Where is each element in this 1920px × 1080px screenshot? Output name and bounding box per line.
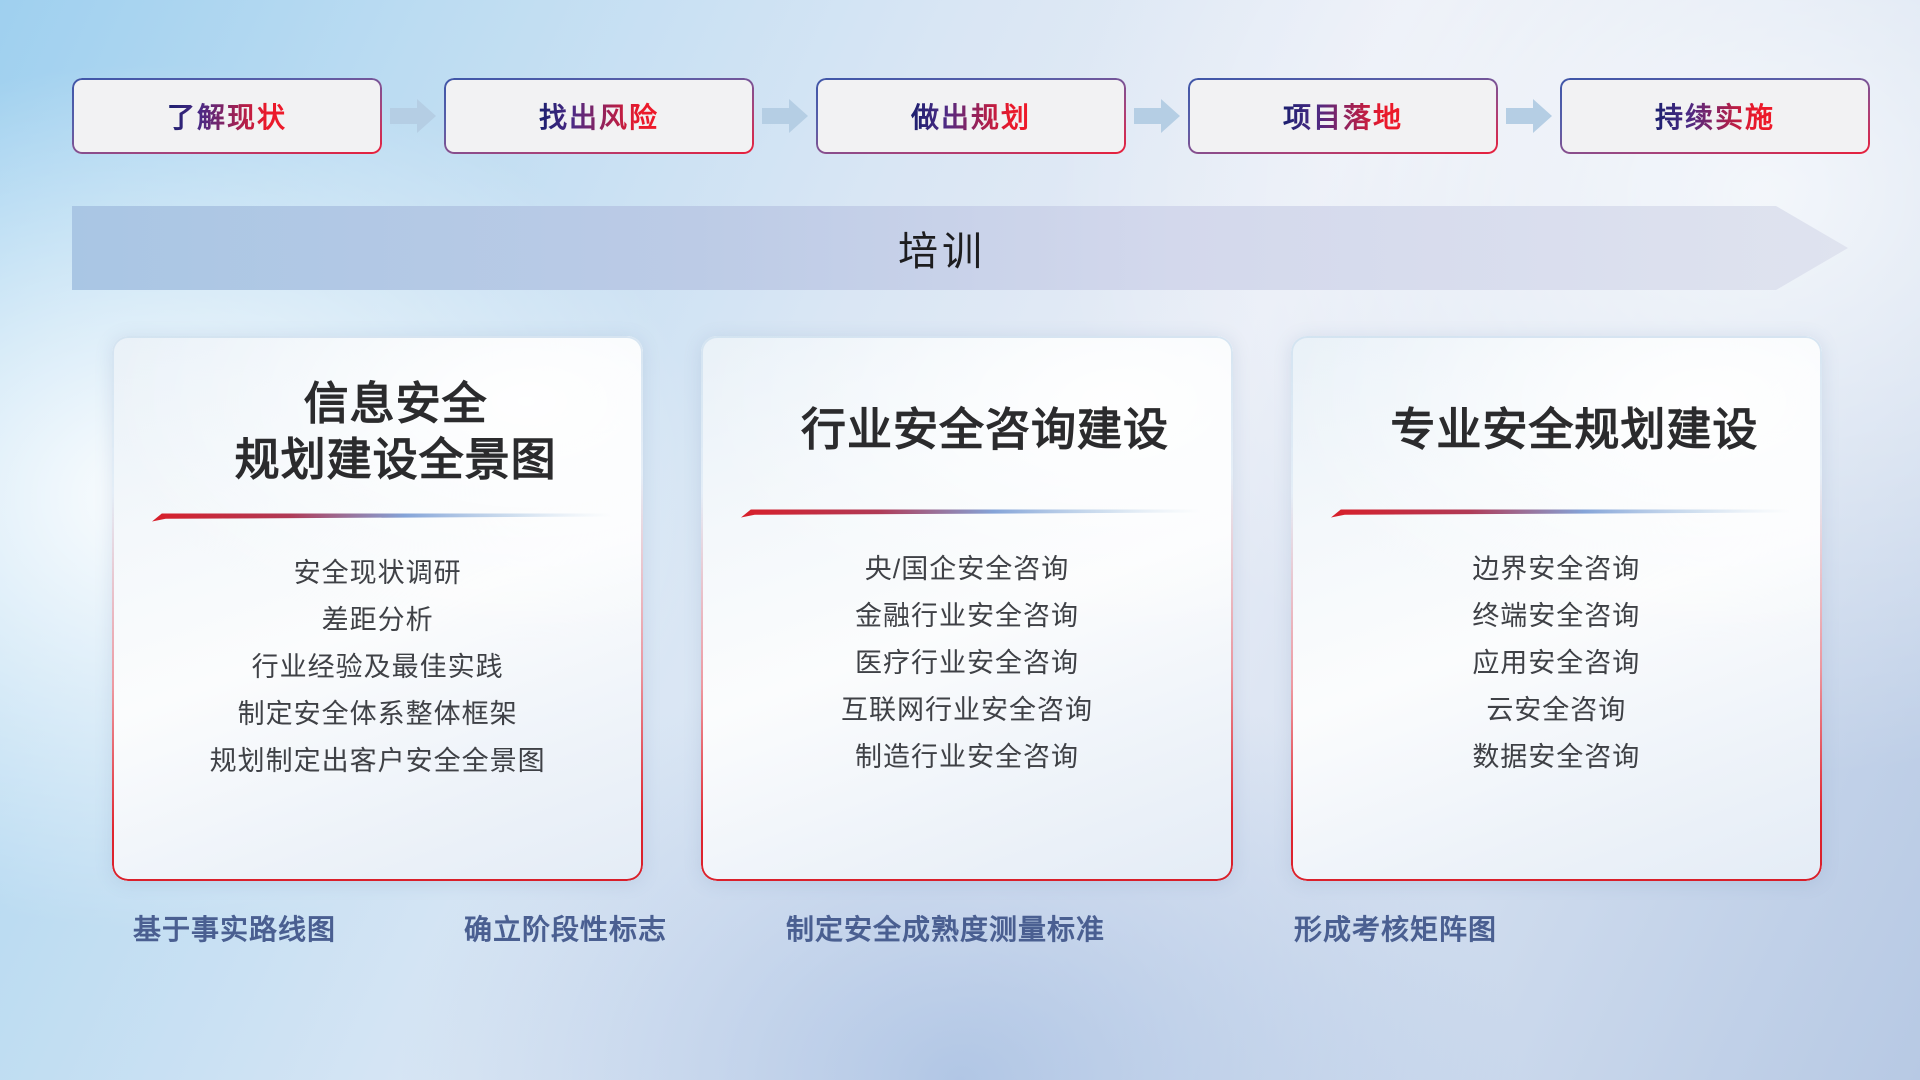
stage-label-2: 做出规划: [911, 96, 1031, 136]
list-item: 终端安全咨询: [1319, 593, 1794, 640]
list-item: 边界安全咨询: [1319, 546, 1794, 593]
training-label: 培训: [72, 206, 1812, 290]
card-1[interactable]: 行业安全咨询建设 央/国企安全咨询 金融行业安全咨询 医疗行业安全咨询: [701, 336, 1232, 881]
list-item: 差距分析: [140, 597, 615, 644]
list-item: 医疗行业安全咨询: [729, 640, 1204, 687]
card-list-0: 安全现状调研 差距分析 行业经验及最佳实践 制定安全体系整体框架 规划制定出客户…: [140, 550, 615, 785]
card-title-2: 专业安全规划建设: [1319, 376, 1794, 484]
card-list-2: 边界安全咨询 终端安全咨询 应用安全咨询 云安全咨询 数据安全咨询: [1319, 546, 1794, 781]
stage-box-3[interactable]: 项目落地: [1188, 78, 1498, 154]
stage-label-3: 项目落地: [1283, 96, 1403, 136]
stage-box-1[interactable]: 找出风险: [444, 78, 754, 154]
caption-2: 制定安全成熟度测量标准: [786, 908, 1105, 948]
caption-0: 基于事实路线图: [133, 908, 336, 948]
card-title-1: 行业安全咨询建设: [729, 376, 1204, 484]
stage-box-0[interactable]: 了解现状: [72, 78, 382, 154]
card-2[interactable]: 专业安全规划建设 边界安全咨询 终端安全咨询 应用安全咨询 云安全: [1291, 336, 1822, 881]
list-item: 金融行业安全咨询: [729, 593, 1204, 640]
caption-1: 确立阶段性标志: [464, 908, 667, 948]
arrow-right-icon: [1498, 78, 1560, 154]
card-divider-0: [152, 512, 611, 522]
arrow-right-icon: [754, 78, 816, 154]
list-item: 制定安全体系整体框架: [140, 691, 615, 738]
stage-label-4: 持续实施: [1655, 96, 1775, 136]
training-band: 培训: [72, 206, 1848, 290]
list-item: 行业经验及最佳实践: [140, 644, 615, 691]
stage-box-4[interactable]: 持续实施: [1560, 78, 1870, 154]
stage-label-0: 了解现状: [167, 96, 287, 136]
list-item: 互联网行业安全咨询: [729, 687, 1204, 734]
stage-box-2[interactable]: 做出规划: [816, 78, 1126, 154]
card-title-0: 信息安全 规划建设全景图: [140, 376, 615, 488]
list-item: 央/国企安全咨询: [729, 546, 1204, 593]
arrow-right-icon: [382, 78, 444, 154]
caption-row: 基于事实路线图 确立阶段性标志 制定安全成熟度测量标准 形成考核矩阵图: [0, 908, 1920, 968]
stage-label-1: 找出风险: [539, 96, 659, 136]
list-item: 数据安全咨询: [1319, 734, 1794, 781]
list-item: 安全现状调研: [140, 550, 615, 597]
list-item: 应用安全咨询: [1319, 640, 1794, 687]
card-list-1: 央/国企安全咨询 金融行业安全咨询 医疗行业安全咨询 互联网行业安全咨询 制造行…: [729, 546, 1204, 781]
arrow-right-icon: [1126, 78, 1188, 154]
card-divider-1: [741, 508, 1200, 518]
list-item: 云安全咨询: [1319, 687, 1794, 734]
stage-flow-bar: 了解现状 找出风险 做出规划 项目落地 持续实施: [72, 78, 1848, 154]
list-item: 规划制定出客户安全全景图: [140, 738, 615, 785]
card-divider-2: [1331, 508, 1790, 518]
card-0[interactable]: 信息安全 规划建设全景图 安全现状调研 差距分析 行业经验及最佳实践: [112, 336, 643, 881]
list-item: 制造行业安全咨询: [729, 734, 1204, 781]
card-group: 信息安全 规划建设全景图 安全现状调研 差距分析 行业经验及最佳实践: [112, 336, 1822, 881]
caption-3: 形成考核矩阵图: [1294, 908, 1497, 948]
